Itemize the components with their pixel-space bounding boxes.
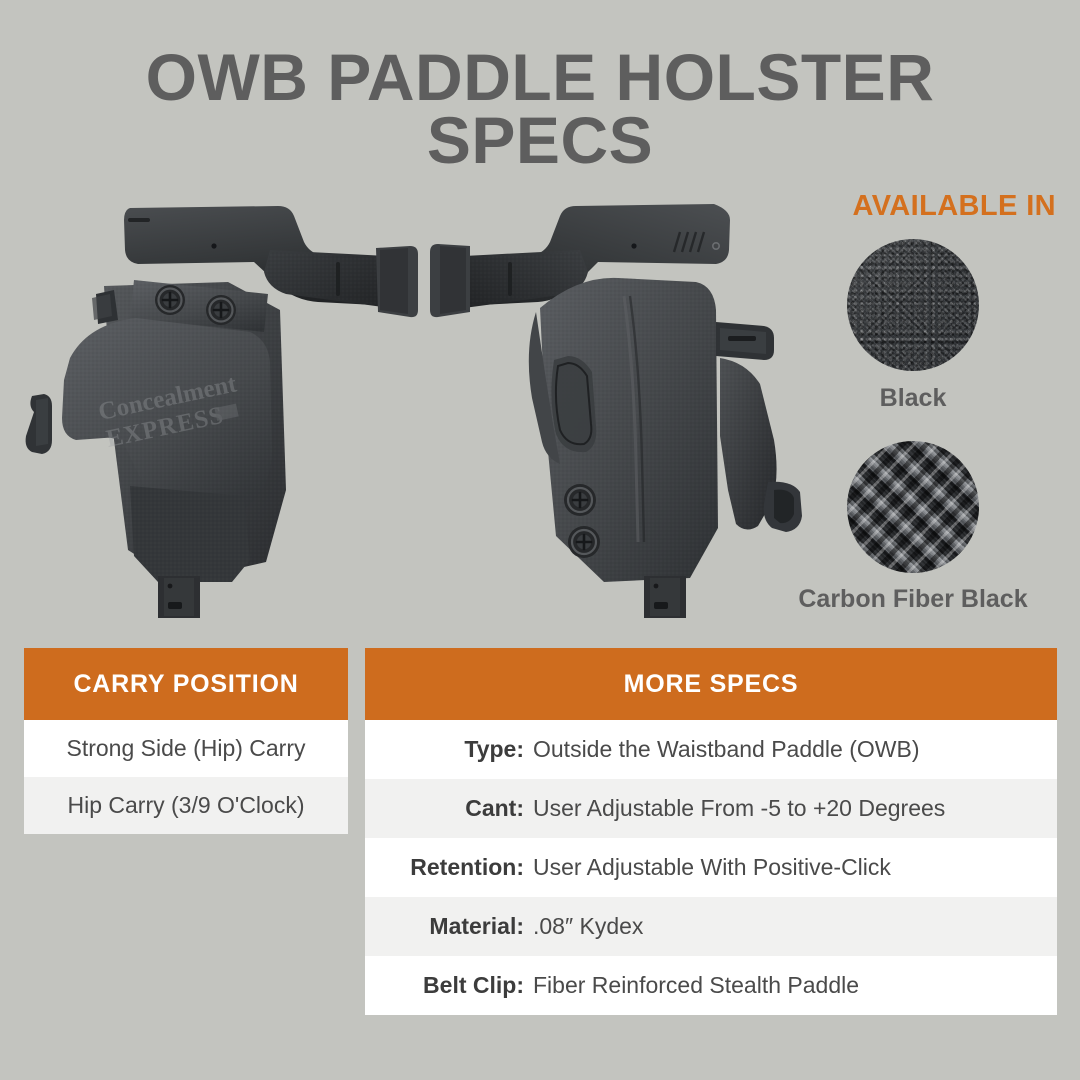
table-row: Retention: User Adjustable With Positive…	[365, 838, 1057, 897]
belt-attachment-right	[716, 322, 774, 360]
spec-value: .08″ Kydex	[533, 913, 1057, 940]
spec-value: User Adjustable From -5 to +20 Degrees	[533, 795, 1057, 822]
spec-value: Outside the Waistband Paddle (OWB)	[533, 736, 1057, 763]
table-row: Type: Outside the Waistband Paddle (OWB)	[365, 720, 1057, 779]
color-option-carbon-fiber[interactable]: Carbon Fiber Black	[768, 441, 1058, 614]
infographic-canvas: OWB PADDLE HOLSTER SPECS	[0, 0, 1080, 1080]
table-row: Hip Carry (3/9 O'Clock)	[24, 777, 348, 834]
carry-position-header: CARRY POSITION	[24, 648, 348, 720]
color-option-black[interactable]: Black	[768, 239, 1058, 413]
title-line-2: SPECS	[0, 109, 1080, 172]
carry-position-value: Hip Carry (3/9 O'Clock)	[68, 792, 305, 819]
carry-position-table: CARRY POSITION Strong Side (Hip) Carry H…	[24, 648, 348, 834]
black-texture-swatch[interactable]	[847, 239, 979, 371]
kydex-shell-right	[529, 278, 718, 582]
retention-screw-1-right	[564, 484, 596, 516]
carbon-fiber-texture-swatch[interactable]	[847, 441, 979, 573]
spec-label: Type:	[365, 736, 533, 763]
spec-value: Fiber Reinforced Stealth Paddle	[533, 972, 1057, 999]
retention-screw-2-right	[568, 526, 600, 558]
retention-screw-2	[206, 295, 236, 325]
spec-label: Cant:	[365, 795, 533, 822]
holster-front-view-image: Concealment EXPRESS	[18, 190, 428, 620]
spec-value: User Adjustable With Positive-Click	[533, 854, 1057, 881]
table-row: Strong Side (Hip) Carry	[24, 720, 348, 777]
mount-post-right	[644, 576, 686, 618]
page-title: OWB PADDLE HOLSTER SPECS	[0, 46, 1080, 171]
carbon-fiber-swatch-label: Carbon Fiber Black	[768, 585, 1058, 614]
spec-label: Material:	[365, 913, 533, 940]
carry-position-value: Strong Side (Hip) Carry	[66, 735, 305, 762]
more-specs-table: MORE SPECS Type: Outside the Waistband P…	[365, 648, 1057, 1015]
available-in-heading: AVAILABLE IN	[768, 190, 1058, 223]
table-row: Cant: User Adjustable From -5 to +20 Deg…	[365, 779, 1057, 838]
more-specs-header: MORE SPECS	[365, 648, 1057, 720]
table-row: Belt Clip: Fiber Reinforced Stealth Padd…	[365, 956, 1057, 1015]
table-row: Material: .08″ Kydex	[365, 897, 1057, 956]
available-in-panel: AVAILABLE IN Black Carbon Fiber Black	[768, 190, 1058, 614]
spec-label: Retention:	[365, 854, 533, 881]
product-image-row: Concealment EXPRESS	[0, 190, 800, 620]
retention-screw-1	[155, 285, 185, 315]
mount-post-left	[158, 576, 200, 618]
black-swatch-label: Black	[768, 384, 1058, 413]
spec-label: Belt Clip:	[365, 972, 533, 999]
